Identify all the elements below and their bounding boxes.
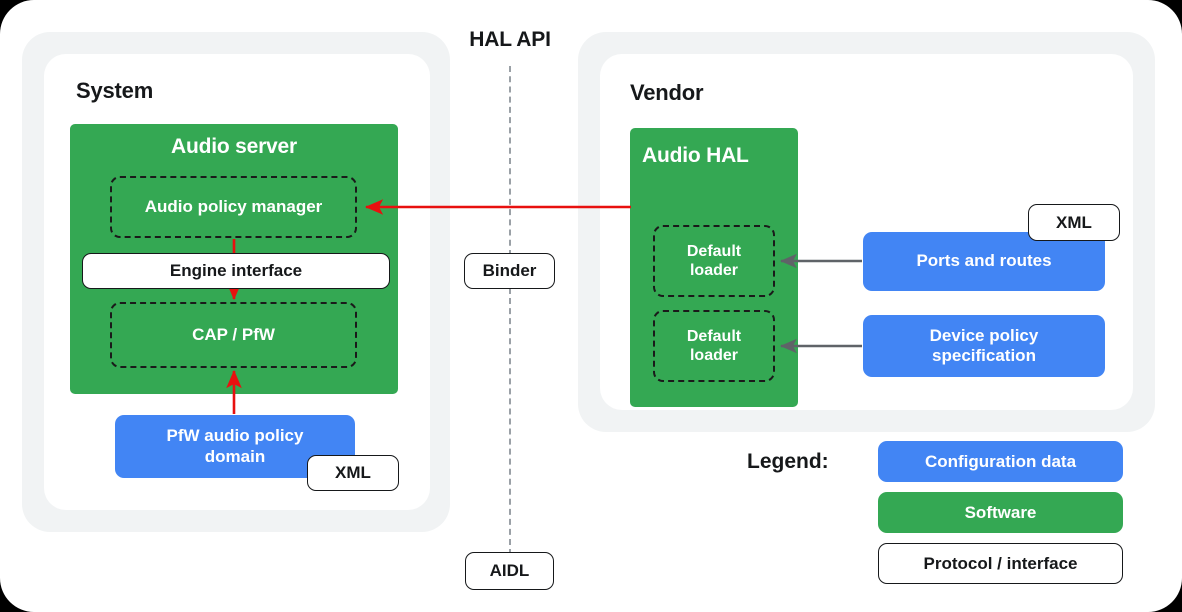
- default-loader-box-2: Default loader: [653, 310, 775, 382]
- diagram-canvas: System Audio server Audio policy manager…: [0, 0, 1182, 612]
- system-panel-title: System: [76, 78, 153, 104]
- legend-item-protocol-interface: Protocol / interface: [878, 543, 1123, 584]
- default-loader-1-line2: loader: [690, 261, 738, 280]
- legend-item-configuration-data: Configuration data: [878, 441, 1123, 482]
- device-policy-line1: Device policy: [930, 326, 1039, 346]
- audio-server-title: Audio server: [70, 135, 398, 159]
- vendor-panel-title: Vendor: [630, 80, 703, 106]
- hal-api-title: HAL API: [430, 28, 590, 52]
- default-loader-box-1: Default loader: [653, 225, 775, 297]
- device-policy-specification-block: Device policy specification: [863, 315, 1105, 377]
- ports-and-routes-xml-badge: XML: [1028, 204, 1120, 241]
- hal-api-divider-upper: [509, 66, 511, 256]
- default-loader-2-line2: loader: [690, 346, 738, 365]
- pfw-domain-xml-badge: XML: [307, 455, 399, 491]
- legend-label: Legend:: [747, 450, 829, 474]
- cap-pfw-box: CAP / PfW: [110, 302, 357, 368]
- default-loader-1-line1: Default: [687, 242, 741, 261]
- hal-api-divider-lower: [509, 288, 511, 555]
- legend-item-software: Software: [878, 492, 1123, 533]
- aidl-pill: AIDL: [465, 552, 554, 590]
- engine-interface-pill: Engine interface: [82, 253, 390, 289]
- pfw-domain-line2: domain: [205, 447, 265, 467]
- audio-hal-title: Audio HAL: [642, 144, 810, 168]
- device-policy-line2: specification: [932, 346, 1036, 366]
- default-loader-2-line1: Default: [687, 327, 741, 346]
- audio-policy-manager-box: Audio policy manager: [110, 176, 357, 238]
- binder-pill: Binder: [464, 253, 555, 289]
- ports-and-routes-label: Ports and routes: [916, 251, 1051, 271]
- pfw-domain-line1: PfW audio policy: [167, 426, 304, 446]
